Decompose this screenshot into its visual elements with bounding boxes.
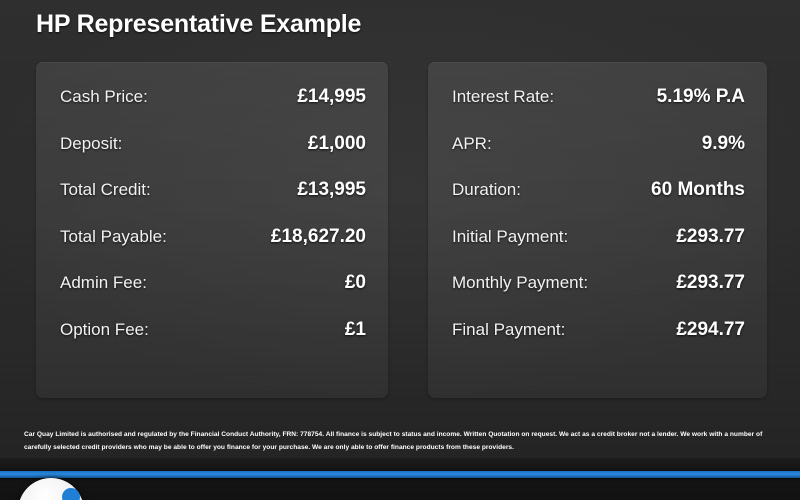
detail-label: Option Fee: — [60, 320, 149, 340]
detail-label: Initial Payment: — [452, 227, 568, 247]
detail-value: £14,995 — [287, 86, 366, 108]
finance-summary-panel-left: Cash Price: £14,995 Deposit: £1,000 Tota… — [36, 62, 388, 398]
detail-row-cash-price: Cash Price: £14,995 — [60, 86, 366, 133]
detail-row-option-fee: Option Fee: £1 — [60, 319, 366, 366]
detail-label: Admin Fee: — [60, 273, 147, 293]
detail-row-total-credit: Total Credit: £13,995 — [60, 179, 366, 226]
page-title: HP Representative Example — [36, 10, 361, 39]
detail-label: Cash Price: — [60, 87, 148, 107]
detail-value: £0 — [335, 272, 366, 294]
logo-accent-dot-icon — [62, 488, 80, 500]
legal-disclaimer-text: Car Quay Limited is authorised and regul… — [24, 428, 780, 454]
detail-row-initial-payment: Initial Payment: £293.77 — [452, 226, 745, 273]
detail-row-deposit: Deposit: £1,000 — [60, 133, 366, 180]
detail-value: £1 — [335, 319, 366, 341]
detail-label: Monthly Payment: — [452, 273, 588, 293]
detail-value: £294.77 — [666, 319, 745, 341]
detail-value: £13,995 — [287, 179, 366, 201]
detail-value: 5.19% P.A — [647, 86, 745, 108]
detail-value: £293.77 — [666, 272, 745, 294]
detail-row-apr: APR: 9.9% — [452, 133, 745, 180]
detail-label: Total Payable: — [60, 227, 167, 247]
detail-label: Total Credit: — [60, 180, 151, 200]
detail-row-monthly-payment: Monthly Payment: £293.77 — [452, 272, 745, 319]
detail-row-admin-fee: Admin Fee: £0 — [60, 272, 366, 319]
detail-value: £1,000 — [298, 133, 366, 155]
detail-value: £293.77 — [666, 226, 745, 248]
footer-bar — [0, 458, 800, 500]
detail-row-interest-rate: Interest Rate: 5.19% P.A — [452, 86, 745, 133]
detail-label: Final Payment: — [452, 320, 565, 340]
detail-row-total-payable: Total Payable: £18,627.20 — [60, 226, 366, 273]
detail-value: 60 Months — [641, 179, 745, 201]
detail-value: £18,627.20 — [261, 226, 366, 248]
detail-label: Deposit: — [60, 134, 122, 154]
detail-value: 9.9% — [692, 133, 745, 155]
detail-row-duration: Duration: 60 Months — [452, 179, 745, 226]
detail-label: APR: — [452, 134, 492, 154]
finance-summary-panel-right: Interest Rate: 5.19% P.A APR: 9.9% Durat… — [428, 62, 767, 398]
detail-label: Duration: — [452, 180, 521, 200]
screenshot-root: HP Representative Example Cash Price: £1… — [0, 0, 800, 500]
blue-accent-bar — [0, 471, 800, 478]
detail-label: Interest Rate: — [452, 87, 554, 107]
detail-row-final-payment: Final Payment: £294.77 — [452, 319, 745, 366]
